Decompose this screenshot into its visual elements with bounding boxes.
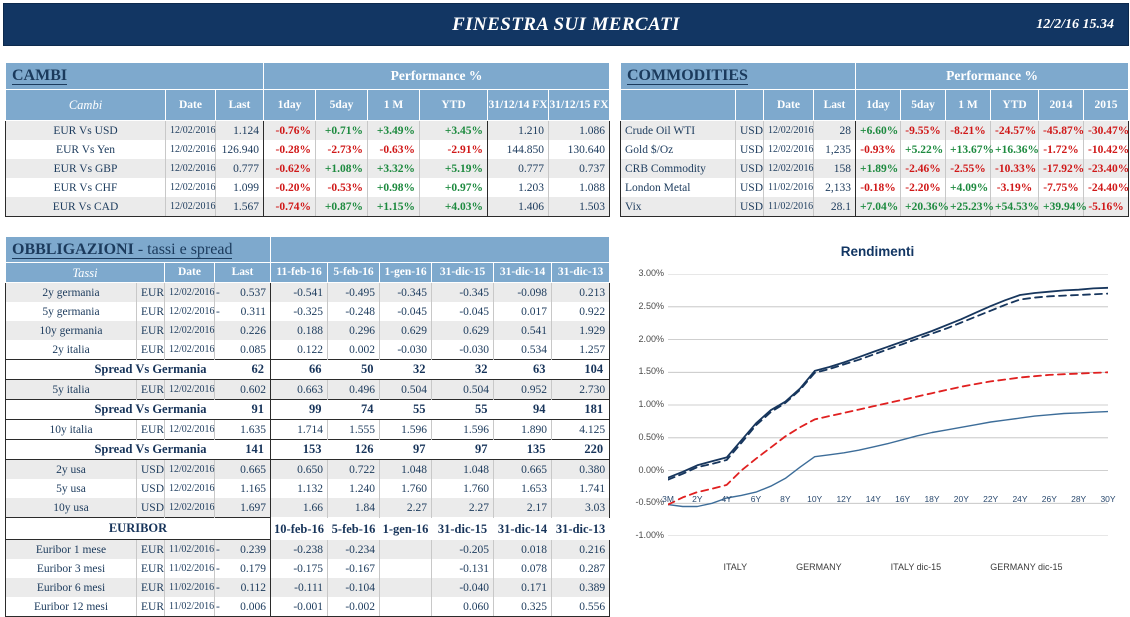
commodity-perf: -1.72% [1039,140,1084,159]
commodity-perf: -10.33% [991,159,1039,178]
cambi-perf: +3.32% [368,159,420,178]
cambi-perf: +0.87% [316,197,368,217]
rate-name: 2y usa [6,460,137,480]
euribor-value: 0.018 [494,540,552,560]
cambi-fx15: 0.737 [549,159,610,178]
table-row: CRB CommodityUSD12/02/2016158+1.89%-2.46… [621,159,1129,178]
rate-value: -0.098 [494,283,552,303]
table-row: 10y italiaEUR12/02/20161.6351.7141.5551.… [6,420,610,440]
commodity-last: 28 [814,121,856,141]
x-axis-tick-label: 16Y [895,494,910,504]
col-31dic13: 31-dic-13 [552,263,610,283]
y-axis-tick-label: -1.00% [630,530,664,540]
rate-value: -0.325 [271,302,328,321]
cambi-fx14: 1.406 [488,197,549,217]
col-fx14: 31/12/14 FX [488,90,549,121]
cambi-panel: CAMBI Performance % Cambi Date Last 1day… [5,62,609,217]
commodity-perf: -9.55% [901,121,946,141]
commodities-column-header-row: Date Last 1day 5day 1 M YTD 2014 2015 [621,90,1129,121]
commodity-perf: +7.04% [856,197,901,217]
rate-last: 1.165 [227,479,271,498]
rate-value: -0.345 [432,283,494,303]
rate-name: 5y germania [6,302,137,321]
rate-value: 1.84 [328,498,380,518]
table-row: Euribor 3 mesiEUR11/02/2016-0.179-0.175-… [6,559,610,578]
euribor-value: 0.060 [432,597,494,617]
cambi-perf: +1.08% [316,159,368,178]
rate-value: 0.534 [494,340,552,360]
spread-value: 135 [494,440,552,460]
col-2015: 2015 [1084,90,1129,121]
cambi-fx14: 1.203 [488,178,549,197]
x-axis-tick-label: 8Y [780,494,790,504]
commodity-perf: +25.23% [946,197,991,217]
table-row: 5y germaniaEUR12/02/2016-0.311-0.325-0.2… [6,302,610,321]
cambi-fx15: 130.640 [549,140,610,159]
commodity-perf: +54.53% [991,197,1039,217]
y-axis-tick-label: 2.50% [630,301,664,311]
commodity-date: 12/02/2016 [764,140,814,159]
rate-value: 1.760 [432,479,494,498]
cambi-perf: -2.91% [420,140,488,159]
rate-last: 0.085 [227,340,271,360]
commodity-perf: -8.21% [946,121,991,141]
obbligazioni-section-header-row: OBBLIGAZIONI - tassi e spread [6,237,610,263]
cambi-date: 12/02/2016 [166,121,216,141]
spread-value: 55 [380,400,432,420]
cambi-fx14: 1.210 [488,121,549,141]
col-cambi: Cambi [6,90,166,121]
rate-minus-sign [215,479,227,498]
rate-last: 0.665 [227,460,271,480]
rate-last: 1.635 [227,420,271,440]
cambi-perf: +0.98% [368,178,420,197]
spread-value: 74 [328,400,380,420]
commodity-date: 12/02/2016 [764,159,814,178]
x-axis-tick-label: 24Y [1012,494,1027,504]
cambi-date: 12/02/2016 [166,140,216,159]
col-5feb16: 5-feb-16 [328,263,380,283]
legend-label: GERMANY [796,562,842,572]
euribor-value: -0.104 [328,578,380,597]
cambi-pair: EUR Vs USD [6,121,166,141]
table-row: EUR Vs USD12/02/20161.124-0.76%+0.71%+3.… [6,121,610,141]
rate-value: 2.17 [494,498,552,518]
rendimenti-chart: Rendimenti 3.00%2.50%2.00%1.50%1.00%0.50… [630,240,1125,605]
commodity-currency: USD [736,159,764,178]
rate-minus-sign [215,340,227,360]
euribor-value [380,559,432,578]
rate-currency: USD [137,479,165,498]
cambi-section-header-row: CAMBI Performance % [6,63,610,90]
commodity-perf: -45.87% [1039,121,1084,141]
x-axis-tick-label: 14Y [866,494,881,504]
euribor-col-5: 31-dic-13 [552,518,610,540]
spread-label: Spread Vs Germania [6,440,215,460]
rate-value: 0.629 [380,321,432,340]
col-11feb16: 11-feb-16 [271,263,328,283]
y-axis-tick-label: 1.50% [630,366,664,376]
rate-value: 0.017 [494,302,552,321]
cambi-pair: EUR Vs CAD [6,197,166,217]
cambi-perf: -2.73% [316,140,368,159]
x-axis-tick-label: 4Y [721,494,731,504]
table-row: EUR Vs CAD12/02/20161.567-0.74%+0.87%+1.… [6,197,610,217]
cambi-fx15: 1.086 [549,121,610,141]
rate-value: 1.890 [494,420,552,440]
commodities-section-header-row: COMMODITIES Performance % [621,63,1129,90]
rate-date: 12/02/2016 [165,302,215,321]
cambi-perf: -0.62% [264,159,316,178]
x-axis-tick-label: 6Y [751,494,761,504]
rate-value: 1.596 [380,420,432,440]
spread-value: 97 [432,440,494,460]
commodity-date: 12/02/2016 [764,121,814,141]
table-row: EUR Vs Yen12/02/2016126.940-0.28%-2.73%-… [6,140,610,159]
rate-value: 0.722 [328,460,380,480]
rate-value: 1.714 [271,420,328,440]
col-31dic14: 31-dic-14 [494,263,552,283]
rate-value: -0.045 [380,302,432,321]
cambi-last: 1.099 [216,178,264,197]
euribor-value: 0.216 [552,540,610,560]
euribor-col-3: 31-dic-15 [432,518,494,540]
spread-row: Spread Vs Germania919974555594181 [6,400,610,420]
commodity-perf: -3.19% [991,178,1039,197]
rate-last: 0.311 [227,302,271,321]
rate-value: 2.730 [552,380,610,400]
euribor-col-1: 5-feb-16 [328,518,380,540]
rate-value: 2.27 [380,498,432,518]
spread-value: 220 [552,440,610,460]
banner-timestamp: 12/2/16 15.34 [1036,4,1114,45]
col-ytd: YTD [991,90,1039,121]
commodity-perf: -5.16% [1084,197,1129,217]
table-row: VixUSD11/02/201628.1+7.04%+20.36%+25.23%… [621,197,1129,217]
euribor-value: 0.389 [552,578,610,597]
commodity-perf: -2.55% [946,159,991,178]
euribor-currency: EUR [137,597,165,617]
euribor-name: Euribor 3 mesi [6,559,137,578]
rate-value: 1.741 [552,479,610,498]
cambi-last: 0.777 [216,159,264,178]
commodity-name: Gold $/Oz [621,140,736,159]
spread-value: 126 [328,440,380,460]
commodity-perf: +5.22% [901,140,946,159]
cambi-perf: +0.71% [316,121,368,141]
spread-value: 63 [494,360,552,380]
col-ccy [736,90,764,121]
cambi-perf: +1.15% [368,197,420,217]
rate-name: 10y italia [6,420,137,440]
col-5day: 5day [316,90,368,121]
rate-value: 2.27 [432,498,494,518]
rate-name: 5y italia [6,380,137,400]
rate-value: 1.048 [380,460,432,480]
commodity-perf: -2.20% [901,178,946,197]
commodity-last: 28.1 [814,197,856,217]
rate-value: 1.048 [432,460,494,480]
spread-row: Spread Vs Germania1411531269797135220 [6,440,610,460]
rate-value: 0.188 [271,321,328,340]
y-axis-tick-label: 0.50% [630,432,664,442]
euribor-value: 0.287 [552,559,610,578]
rate-value: -0.541 [271,283,328,303]
euribor-value [380,578,432,597]
commodity-last: 2,133 [814,178,856,197]
euribor-col-2: 1-gen-16 [380,518,432,540]
col-name [621,90,736,121]
rate-value: 0.541 [494,321,552,340]
rate-minus-sign [215,498,227,518]
commodity-currency: USD [736,197,764,217]
col-1day: 1day [264,90,316,121]
spread-value: 104 [552,360,610,380]
x-axis-tick-label: 28Y [1071,494,1086,504]
rate-currency: USD [137,460,165,480]
commodities-performance-title: Performance % [856,63,1129,90]
rate-value: -0.495 [328,283,380,303]
euribor-name: Euribor 6 mesi [6,578,137,597]
chart-legend: ITALYGERMANYITALY dic-15GERMANY dic-15 [630,562,1125,572]
rate-value: 0.663 [271,380,328,400]
euribor-value: -0.002 [328,597,380,617]
commodity-name: London Metal [621,178,736,197]
euribor-value: -0.238 [271,540,328,560]
table-row: 2y italiaEUR12/02/20160.0850.1220.002-0.… [6,340,610,360]
rate-last: 0.602 [227,380,271,400]
rate-currency: EUR [137,321,165,340]
euribor-label: EURIBOR [6,518,271,540]
table-row: London MetalUSD11/02/20162,133-0.18%-2.2… [621,178,1129,197]
rate-value: 0.380 [552,460,610,480]
euribor-value: 0.078 [494,559,552,578]
commodity-perf: -10.42% [1084,140,1129,159]
spread-value: 153 [271,440,328,460]
col-1day: 1day [856,90,901,121]
y-axis-tick-label: 0.00% [630,465,664,475]
y-axis-tick-label: -0.50% [630,497,664,507]
col-last: Last [216,90,264,121]
rate-value: 0.650 [271,460,328,480]
rate-value: 1.929 [552,321,610,340]
legend-label: ITALY [723,562,747,572]
table-row: 10y usaUSD12/02/20161.6971.661.842.272.2… [6,498,610,518]
commodity-perf: +6.60% [856,121,901,141]
euribor-value: 0.556 [552,597,610,617]
rate-value: 1.596 [432,420,494,440]
x-axis-tick-label: 12Y [836,494,851,504]
spread-last: 91 [215,400,271,420]
rate-value: 0.922 [552,302,610,321]
cambi-column-header-row: Cambi Date Last 1day 5day 1 M YTD 31/12/… [6,90,610,121]
col-1m: 1 M [946,90,991,121]
rate-value: 4.125 [552,420,610,440]
rate-currency: USD [137,498,165,518]
commodity-perf: +4.09% [946,178,991,197]
x-axis-tick-label: 18Y [924,494,939,504]
rate-value: 0.213 [552,283,610,303]
rate-currency: EUR [137,380,165,400]
cambi-pair: EUR Vs Yen [6,140,166,159]
cambi-pair: EUR Vs GBP [6,159,166,178]
cambi-fx15: 1.088 [549,178,610,197]
col-31dic15: 31-dic-15 [432,263,494,283]
cambi-date: 12/02/2016 [166,197,216,217]
rate-minus-sign: - [215,283,227,303]
commodity-currency: USD [736,140,764,159]
cambi-fx15: 1.503 [549,197,610,217]
cambi-perf: +5.19% [420,159,488,178]
euribor-minus-sign: - [215,597,227,617]
commodity-name: Vix [621,197,736,217]
rate-name: 5y usa [6,479,137,498]
euribor-minus-sign: - [215,559,227,578]
app-banner: FINESTRA SUI MERCATI 12/2/16 15.34 [3,3,1129,46]
commodity-name: CRB Commodity [621,159,736,178]
euribor-value: -0.131 [432,559,494,578]
commodity-perf: -7.75% [1039,178,1084,197]
euribor-col-0: 10-feb-16 [271,518,328,540]
commodity-perf: -0.18% [856,178,901,197]
euribor-value: 0.171 [494,578,552,597]
commodity-perf: +13.67% [946,140,991,159]
rate-currency: EUR [137,340,165,360]
col-date: Date [764,90,814,121]
x-axis-tick-label: 30Y [1100,494,1115,504]
table-row: EUR Vs GBP12/02/20160.777-0.62%+1.08%+3.… [6,159,610,178]
y-axis-tick-label: 2.00% [630,334,664,344]
euribor-date: 11/02/2016 [165,540,215,560]
euribor-last: 0.179 [227,559,271,578]
euribor-value: -0.205 [432,540,494,560]
rate-minus-sign: - [215,302,227,321]
euribor-currency: EUR [137,540,165,560]
rate-currency: EUR [137,283,165,303]
col-ytd: YTD [420,90,488,121]
rate-date: 12/02/2016 [165,340,215,360]
rate-date: 12/02/2016 [165,460,215,480]
spread-label: Spread Vs Germania [6,360,215,380]
rate-name: 10y germania [6,321,137,340]
legend-item: GERMANY dic-15 [959,562,1062,572]
commodity-name: Crude Oil WTI [621,121,736,141]
rate-value: 1.555 [328,420,380,440]
table-row: Euribor 1 meseEUR11/02/2016-0.239-0.238-… [6,540,610,560]
rate-date: 12/02/2016 [165,420,215,440]
chart-title: Rendimenti [630,244,1125,259]
commodity-perf: +1.89% [856,159,901,178]
page-title: FINESTRA SUI MERCATI [4,4,1128,45]
euribor-date: 11/02/2016 [165,578,215,597]
cambi-perf: -0.63% [368,140,420,159]
cambi-fx14: 0.777 [488,159,549,178]
cambi-date: 12/02/2016 [166,178,216,197]
cambi-perf: -0.76% [264,121,316,141]
col-date: Date [165,263,215,283]
euribor-value: -0.167 [328,559,380,578]
rate-date: 12/02/2016 [165,321,215,340]
cambi-last: 1.567 [216,197,264,217]
euribor-value: -0.234 [328,540,380,560]
col-fx15: 31/12/15 FX [549,90,610,121]
col-tassi: Tassi [6,263,165,283]
cambi-pair: EUR Vs CHF [6,178,166,197]
col-2014: 2014 [1039,90,1084,121]
cambi-section-title: CAMBI [6,63,264,90]
x-axis-tick-label: 22Y [983,494,998,504]
cambi-perf: -0.53% [316,178,368,197]
rate-value: 0.122 [271,340,328,360]
rate-value: 0.296 [328,321,380,340]
table-row: Gold $/OzUSD12/02/20161,235-0.93%+5.22%+… [621,140,1129,159]
euribor-value [380,540,432,560]
rate-value: -0.030 [380,340,432,360]
col-date: Date [166,90,216,121]
y-axis-tick-label: 1.00% [630,399,664,409]
spread-value: 66 [271,360,328,380]
euribor-name: Euribor 12 mesi [6,597,137,617]
euribor-name: Euribor 1 mese [6,540,137,560]
obbligazioni-column-header-row: Tassi Date Last 11-feb-16 5-feb-16 1-gen… [6,263,610,283]
cambi-performance-title: Performance % [264,63,610,90]
col-5day: 5day [901,90,946,121]
table-row: 10y germaniaEUR12/02/20160.2260.1880.296… [6,321,610,340]
rate-last: 0.537 [227,283,271,303]
cambi-fx14: 144.850 [488,140,549,159]
rate-value: 0.504 [380,380,432,400]
commodity-perf: -23.40% [1084,159,1129,178]
rate-value: 3.03 [552,498,610,518]
commodity-perf: +16.36% [991,140,1039,159]
cambi-perf: -0.28% [264,140,316,159]
legend-item: GERMANY [765,562,842,572]
rate-minus-sign [215,321,227,340]
rate-name: 10y usa [6,498,137,518]
spread-value: 55 [432,400,494,420]
euribor-value: -0.040 [432,578,494,597]
rate-minus-sign [215,380,227,400]
rate-value: 0.629 [432,321,494,340]
rate-minus-sign [215,420,227,440]
rate-date: 12/02/2016 [165,498,215,518]
col-last: Last [814,90,856,121]
rate-value: 0.496 [328,380,380,400]
rate-value: 1.132 [271,479,328,498]
rate-minus-sign [215,460,227,480]
commodity-date: 11/02/2016 [764,178,814,197]
spread-value: 32 [380,360,432,380]
euribor-currency: EUR [137,559,165,578]
euribor-minus-sign: - [215,578,227,597]
rate-value: 1.257 [552,340,610,360]
rate-date: 12/02/2016 [165,380,215,400]
rate-value: 1.240 [328,479,380,498]
rate-value: -0.030 [432,340,494,360]
y-axis-tick-label: 3.00% [630,268,664,278]
euribor-value [380,597,432,617]
commodity-perf: -30.47% [1084,121,1129,141]
cambi-perf: +3.45% [420,121,488,141]
table-row: EUR Vs CHF12/02/20161.099-0.20%-0.53%+0.… [6,178,610,197]
legend-label: GERMANY dic-15 [990,562,1062,572]
commodity-last: 158 [814,159,856,178]
commodity-perf: -24.40% [1084,178,1129,197]
euribor-value: 0.325 [494,597,552,617]
euribor-last: 0.239 [227,540,271,560]
commodities-table: COMMODITIES Performance % Date Last 1day… [620,62,1129,217]
table-row: Euribor 12 mesiEUR11/02/2016-0.006-0.001… [6,597,610,617]
